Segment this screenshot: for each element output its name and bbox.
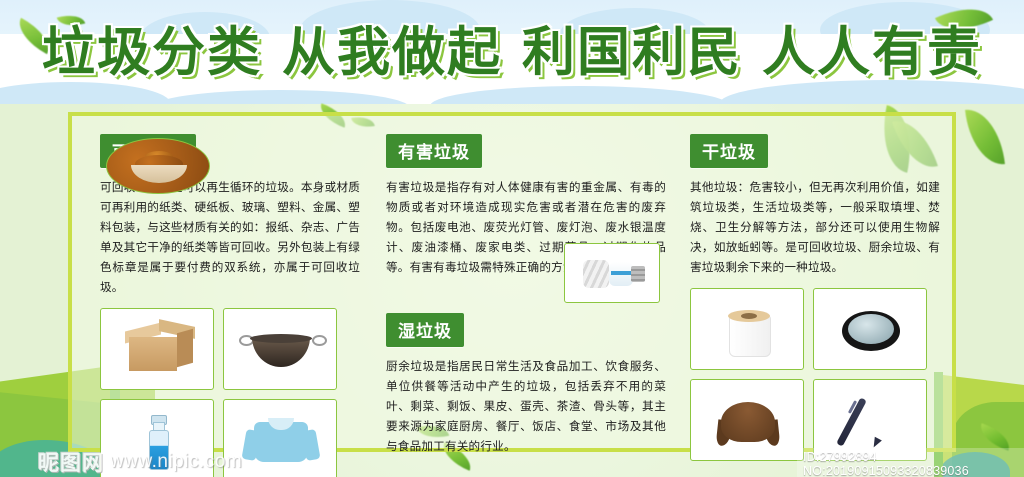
- columns-container: 可回收物 可回收垃圾就是可以再生循环的垃圾。本身或材质可再利用的纸类、硬纸板、玻…: [78, 122, 946, 442]
- food-waste-image: [106, 138, 210, 194]
- section-badge-wet: 湿垃圾: [386, 313, 464, 347]
- title-part-2: 从我做起: [282, 22, 502, 83]
- toilet-paper-image: [690, 288, 804, 370]
- page-title: 垃圾分类从我做起利国利民人人有责: [0, 22, 1024, 84]
- column-hazardous-wet: 有害垃圾 有害垃圾是指存有对人体健康有害的重金属、有毒的物质或者对环境造成现实危…: [378, 122, 678, 442]
- section-text-wet: 厨余垃圾是指居民日常生活及食品加工、饮食服务、单位供餐等活动中产生的垃圾，包括丢…: [386, 356, 666, 456]
- ceramic-dish-image: [813, 288, 927, 370]
- section-text-recyclable: 可回收垃圾就是可以再生循环的垃圾。本身或材质可再利用的纸类、硬纸板、玻璃、塑料、…: [100, 177, 360, 297]
- site-logo: 昵图网: [38, 447, 104, 477]
- iron-wok-image: [223, 308, 337, 390]
- site-url: www.nipic.com: [110, 451, 242, 473]
- title-part-3: 利国利民: [522, 22, 742, 83]
- watermark-id: ID:27992894 NO:20190915093320839036: [797, 448, 1024, 477]
- image-grid-dry: [690, 288, 940, 461]
- fluorescent-bulb-image: [564, 243, 660, 303]
- section-text-dry: 其他垃圾：危害较小，但无再次利用价值，如建筑垃圾类，生活垃圾类等，一般采取填埋、…: [690, 177, 940, 277]
- title-part-4: 人人有责: [762, 22, 982, 83]
- section-badge-hazardous: 有害垃圾: [386, 134, 482, 168]
- watermark-left: 昵图网 www.nipic.com: [38, 447, 242, 477]
- cardboard-box-image: [100, 308, 214, 390]
- section-badge-dry: 干垃圾: [690, 134, 768, 168]
- title-part-1: 垃圾分类: [42, 22, 262, 83]
- hair-wig-image: [690, 379, 804, 461]
- poster-canvas: 垃圾分类从我做起利国利民人人有责 可回收物 可回收垃圾就是可以再生循环的垃圾。本…: [0, 0, 1024, 477]
- column-dry: 干垃圾 其他垃圾：危害较小，但无再次利用价值，如建筑垃圾类，生活垃圾类等，一般采…: [678, 122, 946, 442]
